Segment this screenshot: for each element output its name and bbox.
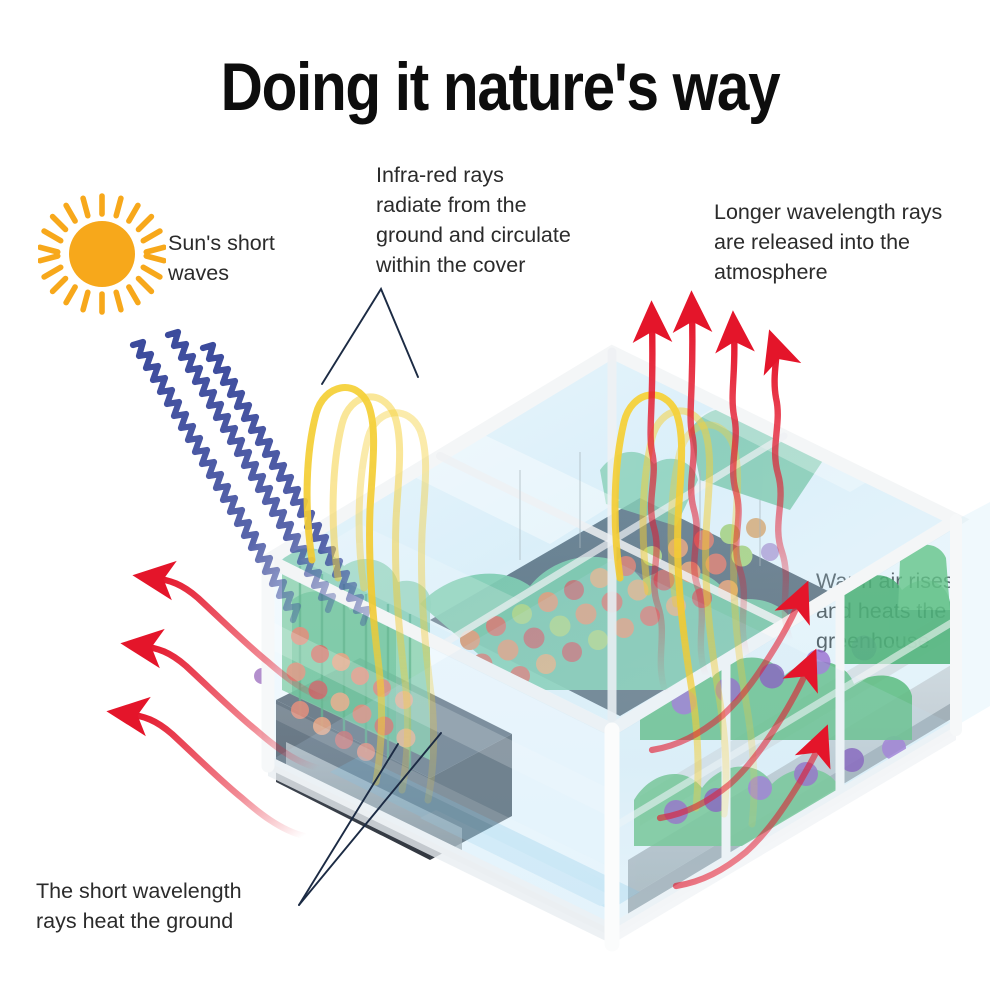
leader-line-ground-b [299, 733, 441, 905]
leader-line-ground-a [299, 744, 398, 905]
sun-icon-wrapper [38, 190, 166, 318]
leader-lines-layer [0, 0, 1000, 1000]
infographic-canvas: Doing it nature's way [0, 0, 1000, 1000]
leader-line-infrared [322, 289, 418, 384]
sun-icon [38, 190, 166, 318]
